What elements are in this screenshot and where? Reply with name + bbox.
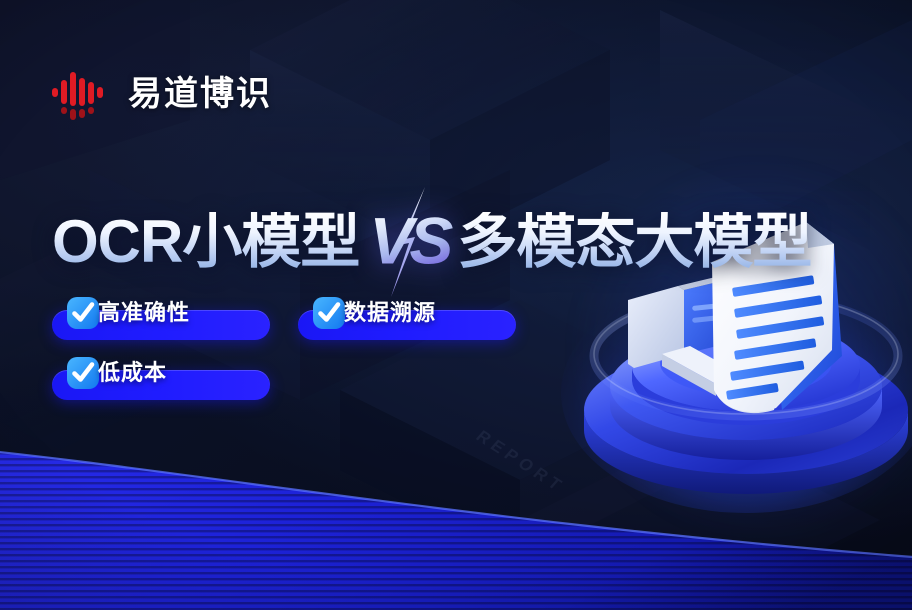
brand-name: 易道博识 (128, 77, 272, 111)
brand-logo[interactable]: 易道博识 (52, 68, 272, 120)
feature-pill-traceability[interactable]: 数据溯源 (298, 310, 516, 340)
feature-pill-low-cost[interactable]: 低成本 (52, 370, 270, 400)
feature-list: 高准确性 数据溯源 低成 (52, 298, 516, 400)
feature-pill-label: 高准确性 (98, 302, 190, 324)
feature-row: 低成本 (52, 358, 516, 400)
headline-left-text: OCR小模型 (52, 212, 359, 272)
check-badge-icon (66, 356, 100, 390)
feature-pill-label: 低成本 (98, 362, 167, 384)
feature-pill-label: 数据溯源 (344, 302, 436, 324)
vs-badge: VS (363, 187, 455, 297)
vs-text: VS (363, 208, 455, 274)
banner-root: REPORT (0, 0, 912, 610)
feature-row: 高准确性 数据溯源 (52, 298, 516, 340)
waveform-bars-icon (52, 68, 110, 120)
feature-pill-accuracy[interactable]: 高准确性 (52, 310, 270, 340)
check-badge-icon (312, 296, 346, 330)
headline-right-text: 多模态大模型 (457, 212, 811, 272)
headline: OCR小模型 VS 多模态大模型 (52, 196, 811, 288)
check-badge-icon (66, 296, 100, 330)
